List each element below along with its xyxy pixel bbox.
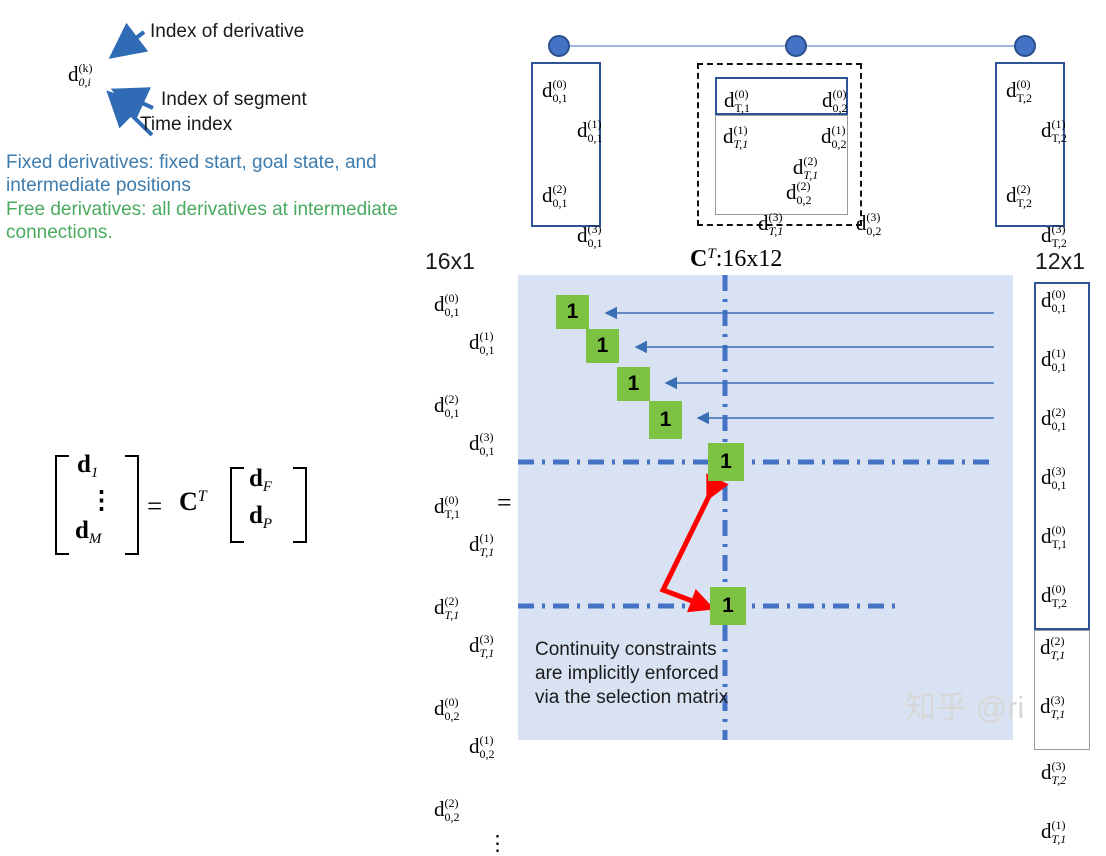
label-index-of-derivative: Index of derivative bbox=[150, 21, 304, 43]
left-vector-ellipsis: ⋮ bbox=[487, 831, 508, 856]
note-fixed-derivatives: Fixed derivatives: fixed start, goal sta… bbox=[6, 151, 416, 197]
left-vector-item: d(2)0,2 bbox=[434, 797, 465, 822]
lhs-bracket-left bbox=[55, 455, 69, 555]
watermark: 知乎 @ri bbox=[905, 682, 1024, 727]
bracket-equation: d1 ⋮ dM = CT dF dP bbox=[55, 455, 305, 560]
note-free-derivatives: Free derivatives: all derivatives at int… bbox=[6, 198, 416, 244]
equation-equals: = bbox=[147, 491, 162, 522]
matrix-one-cell: 1 bbox=[649, 401, 682, 439]
right-vector-item: d(3)T,1 bbox=[1040, 694, 1071, 719]
middle-free-r0-left: d(1)T,1 bbox=[723, 124, 754, 149]
end-d3: d(3)T,2 bbox=[1041, 223, 1072, 248]
right-vector-item: d(2)0,1 bbox=[1041, 406, 1072, 431]
matrix-dimension-label: CT:16x12 bbox=[690, 246, 782, 273]
start-d2: d(2)0,1 bbox=[542, 183, 573, 208]
right-vector-item: d(0)T,1 bbox=[1041, 524, 1072, 549]
lhs-row-1: d1 bbox=[77, 451, 98, 479]
label-time-index: Time index bbox=[140, 114, 232, 136]
right-vector-dimension: 12x1 bbox=[1035, 248, 1085, 275]
middle-derivative-dashed-box: d(0)T,1 d(0)0,2 d(1)T,1 d(1)0,2 d(2)T,1 … bbox=[697, 63, 862, 226]
left-vector-item: d(2)0,1 bbox=[434, 393, 465, 418]
matrix-caption-line-3: via the selection matrix bbox=[535, 686, 775, 710]
rhs-row-F: dF bbox=[249, 465, 272, 493]
middle-fixed-right: d(0)0,2 bbox=[822, 88, 853, 113]
start-d3: d(3)0,1 bbox=[577, 223, 608, 248]
left-vector-item: d(3)T,1 bbox=[469, 633, 500, 658]
end-d1: d(1)T,2 bbox=[1041, 118, 1072, 143]
left-vector: d(0)0,1 d(1)0,1 d(2)0,1 d(3)0,1 d(0)T,1 … bbox=[430, 292, 515, 442]
end-d0: d(0)T,2 bbox=[1006, 78, 1037, 103]
lhs-row-ellipsis: ⋮ bbox=[89, 485, 114, 515]
matrix-caption-line-2: are implicitly enforced bbox=[535, 662, 775, 686]
end-derivative-box: d(0)T,2 d(1)T,2 d(2)T,2 d(3)T,2 bbox=[995, 62, 1065, 227]
matrix-one-cell: 1 bbox=[556, 295, 589, 329]
left-vector-item: d(1)0,1 bbox=[469, 330, 500, 355]
left-vector-dimension: 16x1 bbox=[425, 248, 475, 275]
middle-free-r2-right: d(3)0,2 bbox=[856, 211, 887, 236]
lhs-row-M: dM bbox=[75, 517, 101, 545]
right-vector-item: d(1)T,1 bbox=[1041, 819, 1072, 844]
matrix-equals-sign: = bbox=[497, 488, 512, 518]
middle-free-r2-left: d(3)T,1 bbox=[758, 211, 789, 236]
right-vector-item: d(0)0,1 bbox=[1041, 288, 1072, 313]
right-vector-item: d(3)T,2 bbox=[1041, 760, 1072, 785]
rhs-row-P: dP bbox=[249, 502, 272, 530]
right-vector-item: d(2)T,1 bbox=[1040, 635, 1071, 660]
right-vector-fixed-box: d(0)0,1 d(1)0,1 d(2)0,1 d(3)0,1 d(0)T,1 … bbox=[1034, 282, 1090, 630]
matrix-caption-line-1: Continuity constraints bbox=[535, 638, 775, 662]
start-d0: d(0)0,1 bbox=[542, 78, 573, 103]
node-middle[interactable] bbox=[785, 35, 807, 57]
right-vector-free-box: d(2)T,1 d(3)T,1 bbox=[1034, 630, 1090, 750]
matrix-one-cell: 1 bbox=[617, 367, 650, 401]
left-vector-item: d(1)T,1 bbox=[469, 532, 500, 557]
middle-free-r1-left: d(2)T,1 bbox=[793, 155, 824, 180]
continuity-link-arrow bbox=[663, 490, 712, 605]
equation-C-transpose: CT bbox=[179, 487, 207, 517]
middle-free-r0-right: d(1)0,2 bbox=[821, 124, 852, 149]
middle-fixed-box: d(0)T,1 d(0)0,2 bbox=[715, 77, 848, 115]
right-vector-item: d(0)T,2 bbox=[1041, 583, 1072, 608]
rhs-bracket-right bbox=[293, 467, 307, 543]
matrix-caption: Continuity constraints are implicitly en… bbox=[535, 638, 775, 710]
middle-fixed-left: d(0)T,1 bbox=[724, 88, 755, 113]
middle-free-r1-right: d(2)0,2 bbox=[786, 180, 817, 205]
left-vector-item: d(2)T,1 bbox=[434, 595, 465, 620]
left-vector-item: d(3)0,1 bbox=[469, 431, 500, 456]
end-d2: d(2)T,2 bbox=[1006, 183, 1037, 208]
middle-free-box: d(1)T,1 d(1)0,2 d(2)T,1 d(2)0,2 d(3)T,1 … bbox=[715, 115, 848, 215]
matrix-one-cell: 1 bbox=[708, 443, 744, 481]
start-d1: d(1)0,1 bbox=[577, 118, 608, 143]
right-vector-item: d(1)0,1 bbox=[1041, 347, 1072, 372]
label-index-of-segment: Index of segment bbox=[161, 89, 307, 111]
left-vector-item: d(0)T,1 bbox=[434, 494, 465, 519]
node-end[interactable] bbox=[1014, 35, 1036, 57]
rhs-bracket-left bbox=[230, 467, 244, 543]
left-vector-item: d(0)0,2 bbox=[434, 696, 465, 721]
left-vector-item: d(0)0,1 bbox=[434, 292, 465, 317]
node-start[interactable] bbox=[548, 35, 570, 57]
matrix-one-cell: 1 bbox=[586, 329, 619, 363]
right-vector-item: d(3)0,1 bbox=[1041, 465, 1072, 490]
lhs-bracket-right bbox=[125, 455, 139, 555]
start-derivative-box: d(0)0,1 d(1)0,1 d(2)0,1 d(3)0,1 bbox=[531, 62, 601, 227]
matrix-one-cell: 1 bbox=[710, 587, 746, 625]
left-vector-item: d(1)0,2 bbox=[469, 734, 500, 759]
